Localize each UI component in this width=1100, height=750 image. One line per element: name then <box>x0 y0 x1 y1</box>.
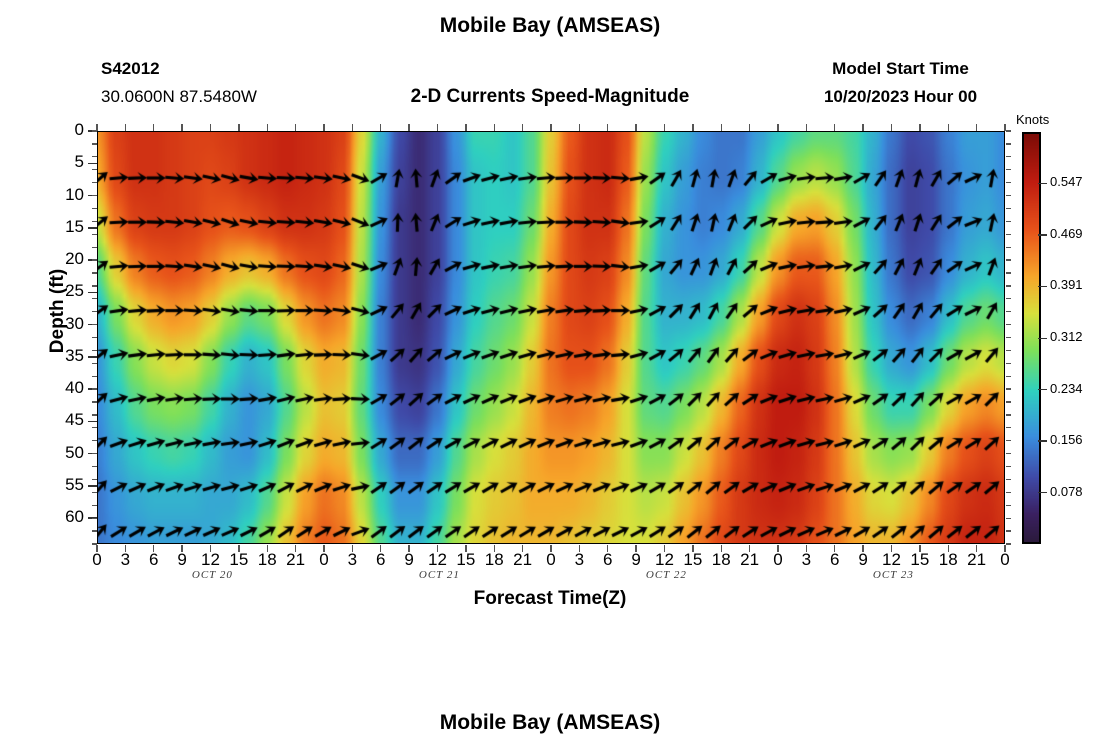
y-minor-tick-mark <box>92 234 97 235</box>
y-minor-tick-mark <box>92 259 97 260</box>
y-right-minor-tick-mark <box>1006 143 1011 144</box>
y-right-minor-tick-mark <box>1006 298 1011 299</box>
x-top-tick-mark <box>494 124 495 131</box>
x-tick-label: 15 <box>451 550 481 570</box>
x-tick-label: 21 <box>962 550 992 570</box>
y-right-minor-tick-mark <box>1006 388 1011 389</box>
y-minor-tick-mark <box>92 466 97 467</box>
x-axis-day-label: OCT 21 <box>394 569 484 581</box>
x-top-tick-mark <box>550 124 551 131</box>
y-tick-label: 55 <box>38 475 84 495</box>
x-top-tick-mark <box>323 124 324 131</box>
y-right-minor-tick-mark <box>1006 182 1011 183</box>
y-right-minor-tick-mark <box>1006 130 1011 131</box>
station-coordinates-label: 30.0600N 87.5480W <box>101 87 257 107</box>
y-tick-label: 0 <box>38 120 84 140</box>
y-minor-tick-mark <box>92 453 97 454</box>
y-tick-label: 15 <box>38 217 84 237</box>
x-tick-label: 6 <box>366 550 396 570</box>
colorbar-tick-label: 0.156 <box>1050 432 1098 447</box>
y-right-minor-tick-mark <box>1006 169 1011 170</box>
x-tick-label: 15 <box>905 550 935 570</box>
x-tick-label: 18 <box>479 550 509 570</box>
heatmap-plot-area <box>97 131 1005 544</box>
x-tick-label: 12 <box>650 550 680 570</box>
y-right-minor-tick-mark <box>1006 453 1011 454</box>
x-tick-label: 3 <box>110 550 140 570</box>
y-right-minor-tick-mark <box>1006 259 1011 260</box>
x-top-tick-mark <box>96 124 97 131</box>
footer-title: Mobile Bay (AMSEAS) <box>0 711 1100 735</box>
y-right-minor-tick-mark <box>1006 363 1011 364</box>
y-tick-label: 45 <box>38 410 84 430</box>
y-right-minor-tick-mark <box>1006 234 1011 235</box>
y-minor-tick-mark <box>92 182 97 183</box>
y-right-minor-tick-mark <box>1006 337 1011 338</box>
y-minor-tick-mark <box>92 195 97 196</box>
chart-subtitle: 2-D Currents Speed-Magnitude <box>360 86 740 108</box>
y-minor-tick-mark <box>92 143 97 144</box>
x-tick-label: 0 <box>82 550 112 570</box>
x-axis-title: Forecast Time(Z) <box>370 588 730 610</box>
y-minor-tick-mark <box>92 221 97 222</box>
x-axis-day-label: OCT 23 <box>848 569 938 581</box>
x-axis-day-label: OCT 22 <box>621 569 711 581</box>
colorbar-tick-mark <box>1038 286 1047 287</box>
x-tick-label: 9 <box>394 550 424 570</box>
x-top-tick-mark <box>437 124 438 131</box>
y-minor-tick-mark <box>92 156 97 157</box>
x-tick-label: 6 <box>593 550 623 570</box>
y-minor-tick-mark <box>92 401 97 402</box>
x-top-tick-mark <box>181 124 182 131</box>
x-top-tick-mark <box>153 124 154 131</box>
colorbar-tick-label: 0.469 <box>1050 226 1098 241</box>
x-top-tick-mark <box>777 124 778 131</box>
x-tick-label: 21 <box>735 550 765 570</box>
y-right-minor-tick-mark <box>1006 376 1011 377</box>
x-tick-label: 18 <box>252 550 282 570</box>
y-tick-label: 35 <box>38 346 84 366</box>
colorbar-tick-label: 0.312 <box>1050 329 1098 344</box>
y-right-minor-tick-mark <box>1006 479 1011 480</box>
model-start-time-value: 10/20/2023 Hour 00 <box>798 87 1003 107</box>
y-right-minor-tick-mark <box>1006 285 1011 286</box>
y-minor-tick-mark <box>92 440 97 441</box>
y-tick-mark <box>88 421 97 423</box>
y-right-minor-tick-mark <box>1006 156 1011 157</box>
y-right-minor-tick-mark <box>1006 440 1011 441</box>
y-minor-tick-mark <box>92 479 97 480</box>
x-tick-label: 9 <box>167 550 197 570</box>
x-tick-label: 9 <box>621 550 651 570</box>
y-tick-label: 25 <box>38 281 84 301</box>
y-right-minor-tick-mark <box>1006 518 1011 519</box>
model-start-time-label: Model Start Time <box>798 59 1003 79</box>
x-tick-label: 0 <box>536 550 566 570</box>
x-top-tick-mark <box>522 124 523 131</box>
x-tick-label: 18 <box>706 550 736 570</box>
y-right-minor-tick-mark <box>1006 414 1011 415</box>
y-minor-tick-mark <box>92 247 97 248</box>
x-tick-label: 12 <box>423 550 453 570</box>
x-tick-label: 12 <box>877 550 907 570</box>
y-tick-label: 10 <box>38 185 84 205</box>
y-right-minor-tick-mark <box>1006 208 1011 209</box>
y-minor-tick-mark <box>92 427 97 428</box>
y-minor-tick-mark <box>92 324 97 325</box>
x-tick-label: 21 <box>281 550 311 570</box>
y-right-minor-tick-mark <box>1006 195 1011 196</box>
x-top-tick-mark <box>976 124 977 131</box>
y-minor-tick-mark <box>92 298 97 299</box>
colorbar-tick-mark <box>1038 234 1047 235</box>
x-tick-label: 3 <box>337 550 367 570</box>
x-top-tick-mark <box>635 124 636 131</box>
colorbar-tick-label: 0.078 <box>1050 484 1098 499</box>
y-tick-label: 60 <box>38 507 84 527</box>
x-top-tick-mark <box>891 124 892 131</box>
x-top-tick-mark <box>238 124 239 131</box>
y-minor-tick-mark <box>92 492 97 493</box>
y-minor-tick-mark <box>92 388 97 389</box>
y-tick-label: 40 <box>38 378 84 398</box>
y-minor-tick-mark <box>92 414 97 415</box>
x-tick-label: 18 <box>933 550 963 570</box>
x-top-tick-mark <box>664 124 665 131</box>
x-top-tick-mark <box>408 124 409 131</box>
colorbar-tick-mark <box>1038 389 1047 390</box>
x-top-tick-mark <box>692 124 693 131</box>
page-title: Mobile Bay (AMSEAS) <box>0 14 1100 38</box>
x-top-tick-mark <box>579 124 580 131</box>
y-minor-tick-mark <box>92 311 97 312</box>
y-right-minor-tick-mark <box>1006 543 1011 544</box>
x-top-tick-mark <box>919 124 920 131</box>
x-axis-day-label: OCT 20 <box>167 569 257 581</box>
y-right-minor-tick-mark <box>1006 311 1011 312</box>
x-tick-label: 0 <box>990 550 1020 570</box>
x-top-tick-mark <box>862 124 863 131</box>
x-top-tick-mark <box>125 124 126 131</box>
y-tick-mark <box>88 163 97 165</box>
y-minor-tick-mark <box>92 208 97 209</box>
colorbar-tick-label: 0.547 <box>1050 174 1098 189</box>
x-top-tick-mark <box>267 124 268 131</box>
y-right-minor-tick-mark <box>1006 324 1011 325</box>
y-minor-tick-mark <box>92 363 97 364</box>
x-top-tick-mark <box>465 124 466 131</box>
x-top-tick-mark <box>210 124 211 131</box>
y-right-minor-tick-mark <box>1006 221 1011 222</box>
y-tick-label: 5 <box>38 152 84 172</box>
colorbar-tick-mark <box>1038 338 1047 339</box>
heatmap-canvas <box>97 131 1005 544</box>
y-right-minor-tick-mark <box>1006 466 1011 467</box>
y-tick-mark <box>88 485 97 487</box>
x-tick-label: 12 <box>196 550 226 570</box>
x-top-tick-mark <box>834 124 835 131</box>
x-tick-label: 21 <box>508 550 538 570</box>
y-right-minor-tick-mark <box>1006 505 1011 506</box>
y-tick-mark <box>88 356 97 358</box>
y-minor-tick-mark <box>92 350 97 351</box>
y-tick-label: 20 <box>38 249 84 269</box>
x-tick-label: 0 <box>309 550 339 570</box>
y-minor-tick-mark <box>92 505 97 506</box>
y-right-minor-tick-mark <box>1006 530 1011 531</box>
y-minor-tick-mark <box>92 272 97 273</box>
x-top-tick-mark <box>607 124 608 131</box>
y-right-minor-tick-mark <box>1006 272 1011 273</box>
x-tick-label: 3 <box>791 550 821 570</box>
y-right-minor-tick-mark <box>1006 427 1011 428</box>
y-minor-tick-mark <box>92 285 97 286</box>
x-top-tick-mark <box>380 124 381 131</box>
y-minor-tick-mark <box>92 530 97 531</box>
x-tick-label: 15 <box>678 550 708 570</box>
x-tick-label: 0 <box>763 550 793 570</box>
y-right-minor-tick-mark <box>1006 247 1011 248</box>
y-right-minor-tick-mark <box>1006 492 1011 493</box>
station-id-label: S42012 <box>101 59 160 79</box>
x-top-tick-mark <box>352 124 353 131</box>
x-tick-label: 15 <box>224 550 254 570</box>
colorbar-tick-mark <box>1038 440 1047 441</box>
colorbar-tick-label: 0.234 <box>1050 381 1098 396</box>
colorbar-tick-mark <box>1038 492 1047 493</box>
x-top-tick-mark <box>295 124 296 131</box>
x-top-tick-mark <box>1004 124 1005 131</box>
x-tick-label: 6 <box>139 550 169 570</box>
y-minor-tick-mark <box>92 169 97 170</box>
x-tick-label: 6 <box>820 550 850 570</box>
y-minor-tick-mark <box>92 337 97 338</box>
y-tick-mark <box>88 292 97 294</box>
x-top-tick-mark <box>749 124 750 131</box>
y-tick-label: 50 <box>38 443 84 463</box>
x-tick-label: 9 <box>848 550 878 570</box>
y-right-minor-tick-mark <box>1006 401 1011 402</box>
colorbar-tick-mark <box>1038 183 1047 184</box>
x-top-tick-mark <box>806 124 807 131</box>
x-top-tick-mark <box>721 124 722 131</box>
colorbar-tick-label: 0.391 <box>1050 277 1098 292</box>
x-top-tick-mark <box>948 124 949 131</box>
colorbar-title: Knots <box>1016 112 1076 127</box>
y-minor-tick-mark <box>92 376 97 377</box>
y-tick-mark <box>88 227 97 229</box>
x-tick-label: 3 <box>564 550 594 570</box>
y-tick-label: 30 <box>38 314 84 334</box>
y-right-minor-tick-mark <box>1006 350 1011 351</box>
y-minor-tick-mark <box>92 518 97 519</box>
